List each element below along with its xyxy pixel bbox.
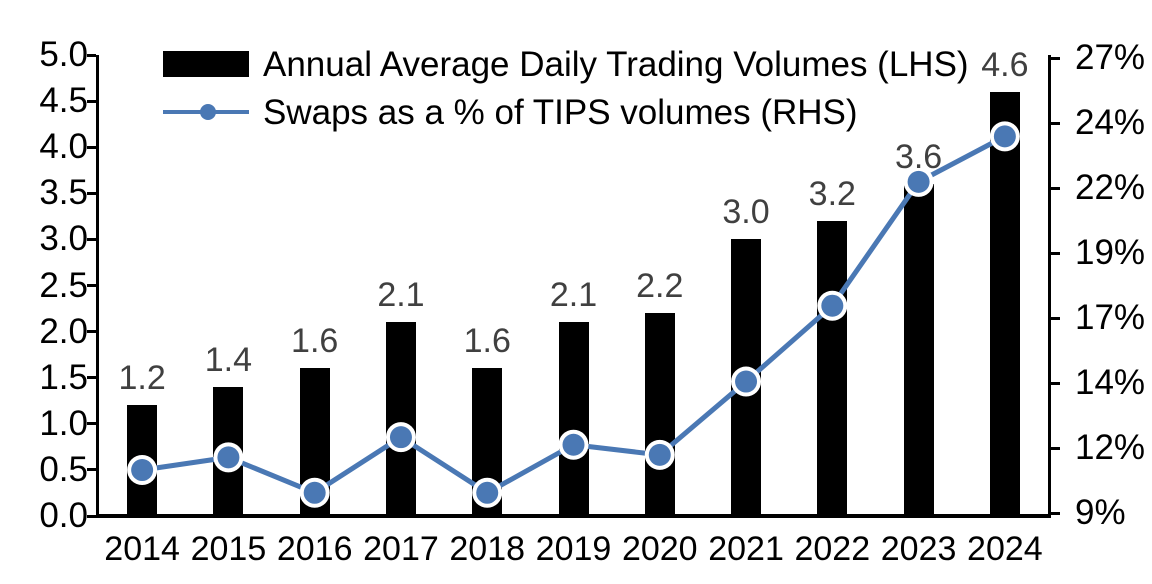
left-axis-tick-label: 0.0: [39, 498, 88, 533]
left-axis-tick-label: 1.5: [39, 360, 88, 395]
line-marker[interactable]: [563, 434, 585, 456]
line-marker[interactable]: [476, 482, 498, 504]
right-axis-tick-label: 27%: [1075, 40, 1145, 75]
line-marker[interactable]: [735, 371, 757, 393]
right-axis-tick-label: 24%: [1075, 105, 1145, 140]
left-axis-tick: [87, 192, 96, 195]
chart-legend: Annual Average Daily Trading Volumes (LH…: [163, 40, 969, 136]
left-axis-tick: [87, 146, 96, 149]
line-marker[interactable]: [217, 446, 239, 468]
right-axis-tick: [1051, 382, 1060, 385]
bar-data-label: 3.0: [722, 195, 769, 229]
right-axis-tick-label: 12%: [1075, 430, 1145, 465]
legend-item-line[interactable]: Swaps as a % of TIPS volumes (RHS): [163, 88, 969, 136]
x-axis-label: 2019: [536, 532, 612, 566]
legend-item-label: Annual Average Daily Trading Volumes (LH…: [263, 47, 969, 82]
left-axis-tick: [87, 284, 96, 287]
left-axis-tick-label: 0.5: [39, 452, 88, 487]
left-axis-tick: [87, 238, 96, 241]
right-axis-tick: [1051, 512, 1060, 515]
left-axis-tick-label: 2.0: [39, 314, 88, 349]
left-axis-tick-label: 3.0: [39, 221, 88, 256]
x-axis-label: 2018: [449, 532, 525, 566]
legend-item-label: Swaps as a % of TIPS volumes (RHS): [263, 95, 858, 130]
bar-data-label: 2.2: [636, 269, 683, 303]
x-axis-label: 2016: [277, 532, 353, 566]
x-axis-label: 2021: [708, 532, 784, 566]
left-axis-tick-label: 5.0: [39, 37, 88, 72]
line-marker-swatch-icon: [163, 99, 249, 125]
right-axis-tick-label: 19%: [1075, 235, 1145, 270]
left-axis-tick: [87, 376, 96, 379]
bar-data-label: 3.6: [895, 140, 942, 174]
line-marker[interactable]: [649, 444, 671, 466]
bar-data-label: 2.1: [550, 278, 597, 312]
bar-swatch-icon: [163, 51, 249, 77]
bar-data-label: 4.6: [981, 48, 1028, 82]
right-axis-tick-label: 17%: [1075, 300, 1145, 335]
left-axis-tick: [87, 422, 96, 425]
legend-item-bars[interactable]: Annual Average Daily Trading Volumes (LH…: [163, 40, 969, 88]
x-axis-label: 2023: [881, 532, 957, 566]
left-axis-tick: [87, 468, 96, 471]
bar-data-label: 1.6: [291, 324, 338, 358]
right-axis-tick: [1051, 447, 1060, 450]
left-axis-tick: [87, 515, 96, 518]
x-axis-label: 2014: [104, 532, 180, 566]
right-axis-tick: [1051, 252, 1060, 255]
x-axis-label: 2020: [622, 532, 698, 566]
x-axis-label: 2015: [191, 532, 267, 566]
right-axis-tick-label: 9%: [1075, 495, 1126, 530]
right-axis-tick: [1051, 122, 1060, 125]
bar-data-label: 1.6: [464, 324, 511, 358]
left-axis-tick: [87, 100, 96, 103]
right-axis-tick: [1051, 57, 1060, 60]
left-axis-tick-label: 3.5: [39, 175, 88, 210]
line-marker[interactable]: [390, 426, 412, 448]
right-axis-tick-label: 14%: [1075, 365, 1145, 400]
right-axis-tick: [1051, 317, 1060, 320]
left-axis-tick: [87, 54, 96, 57]
left-axis-tick: [87, 330, 96, 333]
chart-container: 5.04.54.03.53.02.52.01.51.00.50.0 27%24%…: [0, 0, 1152, 584]
bar-data-label: 1.4: [205, 343, 252, 377]
line-marker[interactable]: [821, 295, 843, 317]
x-axis-label: 2024: [967, 532, 1043, 566]
right-axis-tick-label: 22%: [1075, 170, 1145, 205]
line-marker[interactable]: [304, 482, 326, 504]
bar-data-label: 3.2: [809, 177, 856, 211]
bar-data-label: 2.1: [377, 278, 424, 312]
left-axis-tick-label: 4.5: [39, 83, 88, 118]
bar-data-label: 1.2: [118, 361, 165, 395]
x-axis-label: 2017: [363, 532, 439, 566]
left-axis-tick-label: 2.5: [39, 268, 88, 303]
right-axis-tick: [1051, 187, 1060, 190]
left-axis-tick-label: 4.0: [39, 129, 88, 164]
left-axis-tick-label: 1.0: [39, 406, 88, 441]
x-axis-label: 2022: [794, 532, 870, 566]
line-marker[interactable]: [994, 125, 1016, 147]
line-marker[interactable]: [131, 459, 153, 481]
